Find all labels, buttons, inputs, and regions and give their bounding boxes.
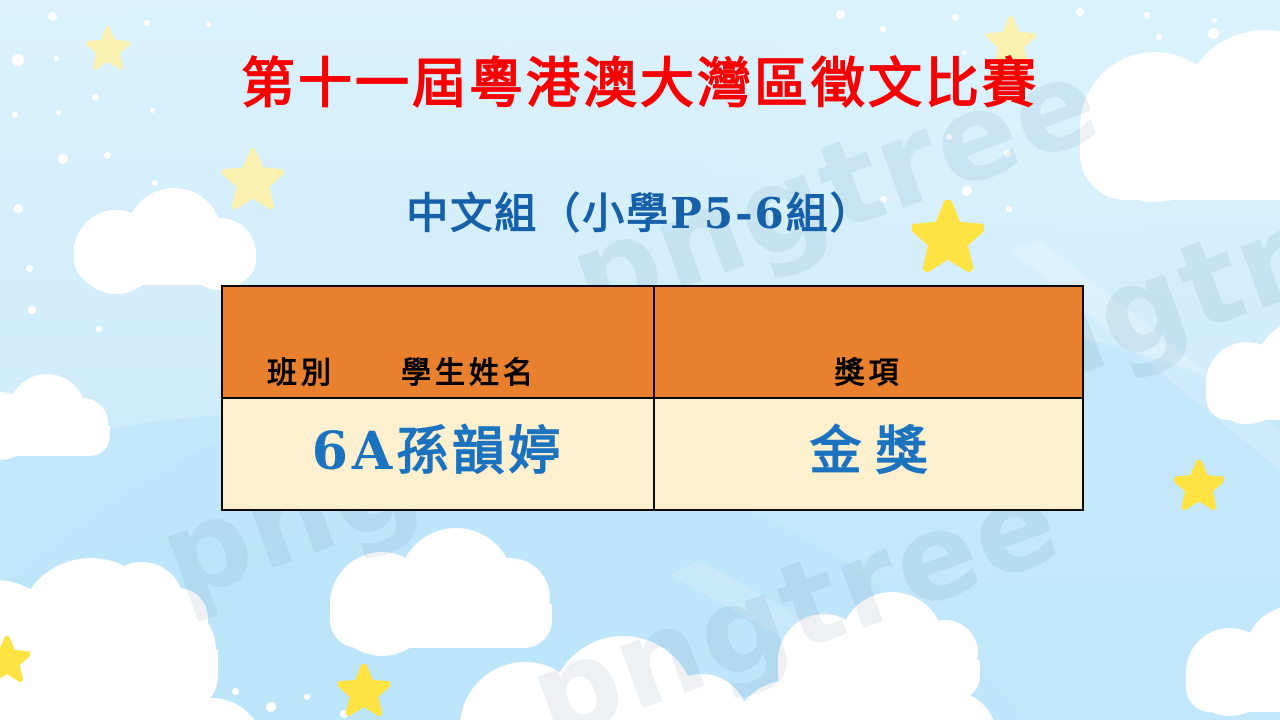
student-value: 6A孫韻婷 [312, 426, 565, 482]
cell-award: 金獎 [654, 398, 1083, 510]
poster-subtitle: 中文組（小學P5-6組） [0, 193, 1280, 235]
cell-student: 6A孫韻婷 [222, 398, 654, 510]
award-table: 班別 學生姓名 獎項 6A孫韻婷 金獎 [221, 285, 1084, 511]
header-label-award: 獎項 [835, 357, 903, 390]
header-cell-class-and-name: 班別 學生姓名 [222, 286, 654, 398]
table-header-row: 班別 學生姓名 獎項 [222, 286, 1083, 398]
header-label-student-name: 學生姓名 [401, 357, 537, 390]
header-cell-award: 獎項 [654, 286, 1083, 398]
poster-content: 第十一屆粵港澳大灣區徵文比賽 中文組（小學P5-6組） 班別 學生姓名 [0, 0, 1280, 720]
award-value: 金獎 [795, 426, 941, 482]
poster-title: 第十一屆粵港澳大灣區徵文比賽 [0, 56, 1280, 110]
table-row: 6A孫韻婷 金獎 [222, 398, 1083, 510]
header-label-class: 班別 [267, 357, 335, 390]
